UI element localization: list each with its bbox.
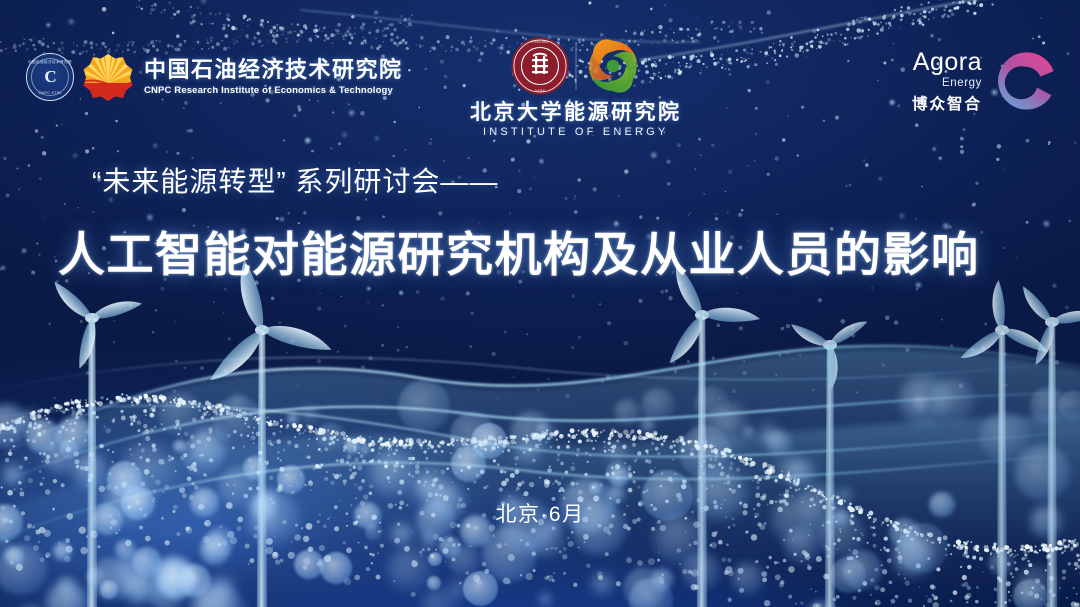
bokeh-circle: [784, 526, 822, 564]
bokeh-circle: [1015, 565, 1058, 607]
logo-divider: [575, 42, 576, 90]
bokeh-circle: [398, 380, 450, 432]
bokeh-circle: [190, 425, 230, 465]
series-subtitle: “未来能源转型” 系列研讨会——: [92, 160, 498, 200]
bokeh-circle-bright: [107, 461, 143, 497]
bokeh-circle: [418, 477, 439, 498]
bokeh-circle: [482, 527, 537, 582]
bokeh-circle: [205, 527, 235, 557]
bokeh-circle-bright: [159, 562, 196, 599]
bokeh-circle: [693, 410, 748, 465]
bokeh-circle: [1015, 445, 1070, 500]
bokeh-circle-bright: [471, 423, 507, 459]
bokeh-circle: [623, 567, 665, 607]
bokeh-circle-bright: [451, 446, 486, 481]
bokeh-circle: [132, 547, 162, 577]
pku-name-cn: 北京大学能源研究院: [470, 102, 682, 123]
bokeh-circle: [651, 568, 675, 592]
bokeh-circle: [807, 600, 835, 607]
bokeh-circle: [629, 578, 673, 607]
bokeh-circle: [605, 461, 630, 486]
pku-name-block: 北京大学能源研究院 INSTITUTE OF ENERGY: [470, 102, 682, 138]
bokeh-circle: [19, 409, 43, 433]
bokeh-circle: [614, 399, 641, 426]
cnpc-research-seal-icon: 中国石油经济技术研究院 C CNPC ETRI: [26, 53, 74, 101]
bokeh-circle: [0, 539, 8, 549]
pku-name-en: INSTITUTE OF ENERGY: [470, 127, 682, 138]
agora-c-ring-icon: [992, 48, 1058, 114]
bokeh-circle: [758, 424, 779, 445]
bokeh-circle: [370, 450, 417, 497]
bokeh-circle: [115, 552, 164, 601]
peking-university-seal-icon: PEKING 1898: [510, 36, 570, 96]
cnpc-logo-group: 中国石油经济技术研究院 C CNPC ETRI: [26, 52, 403, 102]
bokeh-circle: [158, 392, 203, 437]
bokeh-circle-bright: [344, 438, 360, 454]
bokeh-circle-bright: [427, 576, 442, 591]
bokeh-circle-bright: [53, 542, 72, 561]
bokeh-circle: [775, 454, 807, 486]
cnpc-name-cn: 中国石油经济技术研究院: [144, 59, 403, 81]
bokeh-circle-bright: [5, 547, 24, 566]
bokeh-circle: [830, 557, 866, 593]
bokeh-circle: [0, 544, 47, 595]
pku-logo-row: PEKING 1898: [510, 36, 642, 96]
turbine-mid-1: [656, 258, 767, 607]
location-date: 北京·6月: [0, 498, 1080, 528]
bokeh-circle: [682, 552, 721, 591]
bokeh-circle: [213, 396, 263, 446]
bokeh-circle-bright: [200, 534, 230, 564]
agora-name-cn: 博众智合: [912, 97, 982, 113]
bokeh-circle: [589, 482, 602, 495]
svg-text:1898: 1898: [535, 89, 545, 93]
bokeh-circle: [899, 375, 950, 426]
bokeh-circle-bright: [26, 419, 61, 454]
bokeh-circle: [90, 557, 134, 601]
page-title: 人工智能对能源研究机构及从业人员的影响: [58, 216, 980, 285]
bokeh-circle: [65, 589, 83, 607]
cnpc-name-block: 中国石油经济技术研究院 CNPC Research Institute of E…: [144, 59, 403, 96]
bokeh-circle: [387, 547, 433, 593]
bokeh-circle: [641, 418, 656, 433]
bokeh-circle-bright: [277, 465, 305, 493]
bokeh-circle: [694, 386, 730, 422]
bokeh-circle: [679, 426, 731, 478]
bokeh-circle: [515, 439, 542, 466]
seal-letter: C: [44, 67, 55, 87]
bokeh-circle: [536, 422, 551, 437]
bokeh-circle: [150, 580, 183, 607]
bokeh-circle: [979, 412, 1030, 463]
bokeh-circle: [448, 544, 481, 577]
bokeh-circle-bright: [320, 552, 352, 584]
bokeh-circle-bright: [178, 564, 211, 597]
bokeh-circle: [3, 465, 24, 486]
bokeh-circle: [86, 568, 105, 587]
bokeh-circle: [302, 406, 318, 422]
bokeh-circle-bright: [428, 552, 442, 566]
poster-canvas: 中国石油经济技术研究院 C CNPC ETRI: [0, 0, 1080, 607]
bokeh-circle-bright: [463, 571, 498, 606]
bokeh-circle: [72, 452, 108, 488]
agora-name-block: Agora Energy 博众智合: [912, 50, 982, 112]
bokeh-circle: [182, 434, 224, 476]
bokeh-circle-bright: [56, 416, 93, 453]
bokeh-circle: [1058, 391, 1080, 421]
bokeh-circle: [152, 556, 191, 595]
turbine-mid-2: [786, 290, 889, 607]
bokeh-circle: [59, 439, 79, 459]
bokeh-circle: [743, 426, 755, 438]
bokeh-circle-bright: [100, 580, 119, 599]
agora-brand: Agora: [912, 50, 982, 75]
bokeh-circle: [232, 394, 246, 408]
seal-arc-bottom-text: CNPC ETRI: [27, 91, 73, 95]
bokeh-circle: [591, 573, 614, 596]
bokeh-circle: [641, 388, 675, 422]
seal-arc-top-text: 中国石油经济技术研究院: [27, 60, 73, 65]
bokeh-circle-bright: [243, 456, 267, 480]
bokeh-circle: [1030, 387, 1067, 424]
bokeh-circle: [0, 404, 29, 449]
bokeh-circle: [893, 536, 934, 577]
bokeh-circle: [610, 467, 630, 487]
turbine-left-2: [193, 253, 351, 607]
bokeh-circle: [122, 441, 176, 495]
svg-text:PEKING: PEKING: [531, 40, 548, 44]
bokeh-circle: [115, 540, 136, 561]
bokeh-circle: [1013, 579, 1047, 607]
header-logos: 中国石油经济技术研究院 C CNPC ETRI: [0, 0, 1080, 150]
bokeh-circle: [124, 573, 155, 604]
bokeh-circle: [421, 588, 458, 607]
cnpc-petal-logo-icon: [83, 52, 133, 102]
turbine-right-1: [949, 275, 1068, 607]
bokeh-circle: [988, 551, 1014, 577]
bokeh-circle: [843, 550, 882, 589]
agora-logo-group: Agora Energy 博众智合: [912, 48, 1058, 114]
turbine-left-1: [48, 262, 153, 607]
bokeh-circle: [287, 413, 299, 425]
bokeh-circle: [931, 378, 975, 422]
bokeh-circle: [539, 593, 552, 606]
agora-sub: Energy: [912, 78, 982, 90]
bokeh-circle: [190, 582, 235, 607]
bokeh-circle: [57, 576, 77, 596]
bokeh-circle: [421, 531, 438, 548]
bokeh-circle: [360, 444, 371, 455]
bokeh-circle: [450, 412, 497, 459]
bokeh-circle: [214, 577, 234, 597]
bokeh-circle: [9, 419, 26, 436]
bokeh-circle: [510, 411, 553, 454]
bokeh-circle: [766, 430, 791, 455]
bokeh-circle: [897, 523, 947, 573]
cnpc-name-en: CNPC Research Institute of Economics & T…: [144, 86, 403, 96]
bokeh-circle: [714, 402, 748, 436]
bokeh-circle: [155, 556, 198, 599]
bokeh-circle: [316, 422, 345, 451]
bokeh-circle: [198, 587, 248, 607]
bokeh-circle: [732, 562, 764, 594]
bokeh-circle: [44, 441, 77, 474]
bokeh-circle-bright: [173, 440, 186, 453]
bokeh-circle: [439, 536, 461, 558]
institute-of-energy-swirl-icon: [584, 37, 642, 95]
bokeh-circle-bright: [294, 550, 324, 580]
pku-institute-logo-group: PEKING 1898: [470, 36, 682, 138]
bokeh-circle: [46, 582, 88, 607]
bokeh-circle: [786, 459, 816, 489]
turbine-right-2: [1018, 277, 1080, 607]
bokeh-circle: [548, 426, 558, 436]
bokeh-circle: [606, 442, 629, 465]
bokeh-circle: [912, 395, 929, 412]
bokeh-circle: [448, 579, 471, 602]
